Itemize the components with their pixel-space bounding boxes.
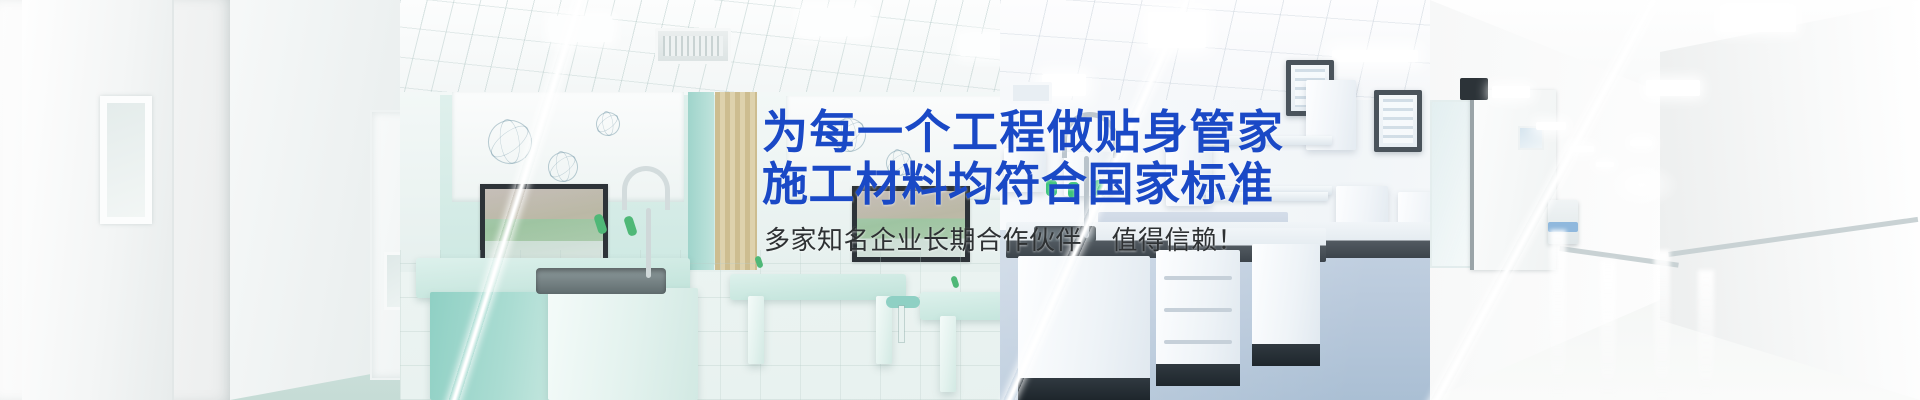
ceiling-vent: [655, 28, 731, 64]
floor-reflection: [1698, 270, 1714, 400]
faucet-stem: [646, 208, 651, 278]
wood-column: [715, 92, 757, 270]
ceiling-light: [1332, 50, 1418, 62]
floor-reflection: [1600, 260, 1616, 400]
drawer-pull: [1164, 340, 1231, 344]
ceiling-light: [1492, 86, 1530, 98]
faucet-handle-green: [1094, 180, 1105, 196]
lab-stool: [886, 296, 920, 308]
bench-plinth: [1156, 364, 1240, 386]
faucet-handle-green: [1046, 180, 1057, 196]
bench-plinth: [1252, 344, 1320, 366]
bench-base: [1156, 250, 1240, 386]
corridor-vanishing-point: [1606, 162, 1678, 208]
bench-plinth: [1018, 378, 1150, 400]
lab-bench-leg: [748, 296, 764, 364]
drawer-pull: [1164, 308, 1231, 312]
fume-hood: [1374, 90, 1422, 152]
shelf: [1206, 192, 1328, 201]
wall-unit: [1004, 148, 1046, 192]
floor-reflection: [1550, 230, 1566, 400]
drawer-pull: [1164, 276, 1231, 280]
window-view: [857, 191, 965, 257]
lab-cabinet: [430, 292, 552, 400]
panel-hospital-corridor: [1430, 0, 1920, 400]
ceiling-light: [1630, 140, 1652, 146]
lab-bench-leg: [940, 316, 956, 392]
door-window: [100, 96, 152, 224]
door-motor-housing: [1460, 78, 1488, 100]
bench-base: [1252, 244, 1320, 366]
ceiling-light: [1646, 80, 1700, 96]
mint-column: [688, 92, 714, 270]
shelf: [1200, 136, 1332, 145]
faucet-arc: [622, 166, 670, 210]
ceiling-light: [1148, 12, 1206, 48]
ceiling-light: [1570, 146, 1594, 152]
faucet-handle-green: [1068, 182, 1079, 198]
hero-banner: 为每一个工程做贴身管家 施工材料均符合国家标准 多家知名企业长期合作伙伴 值得信…: [0, 0, 1920, 400]
wall-unit: [1336, 186, 1388, 226]
ceiling-vent: [1010, 82, 1052, 104]
lab-cabinet: [548, 288, 698, 400]
ceiling-light: [1536, 122, 1566, 130]
ceiling-light: [550, 16, 612, 42]
faucet-stem: [1084, 156, 1089, 238]
bench-base: [1018, 256, 1150, 400]
ceiling-light: [800, 8, 870, 36]
ceiling-light: [1720, 6, 1796, 32]
floor-reflection: [1654, 250, 1670, 400]
sliding-door: [1470, 90, 1556, 270]
